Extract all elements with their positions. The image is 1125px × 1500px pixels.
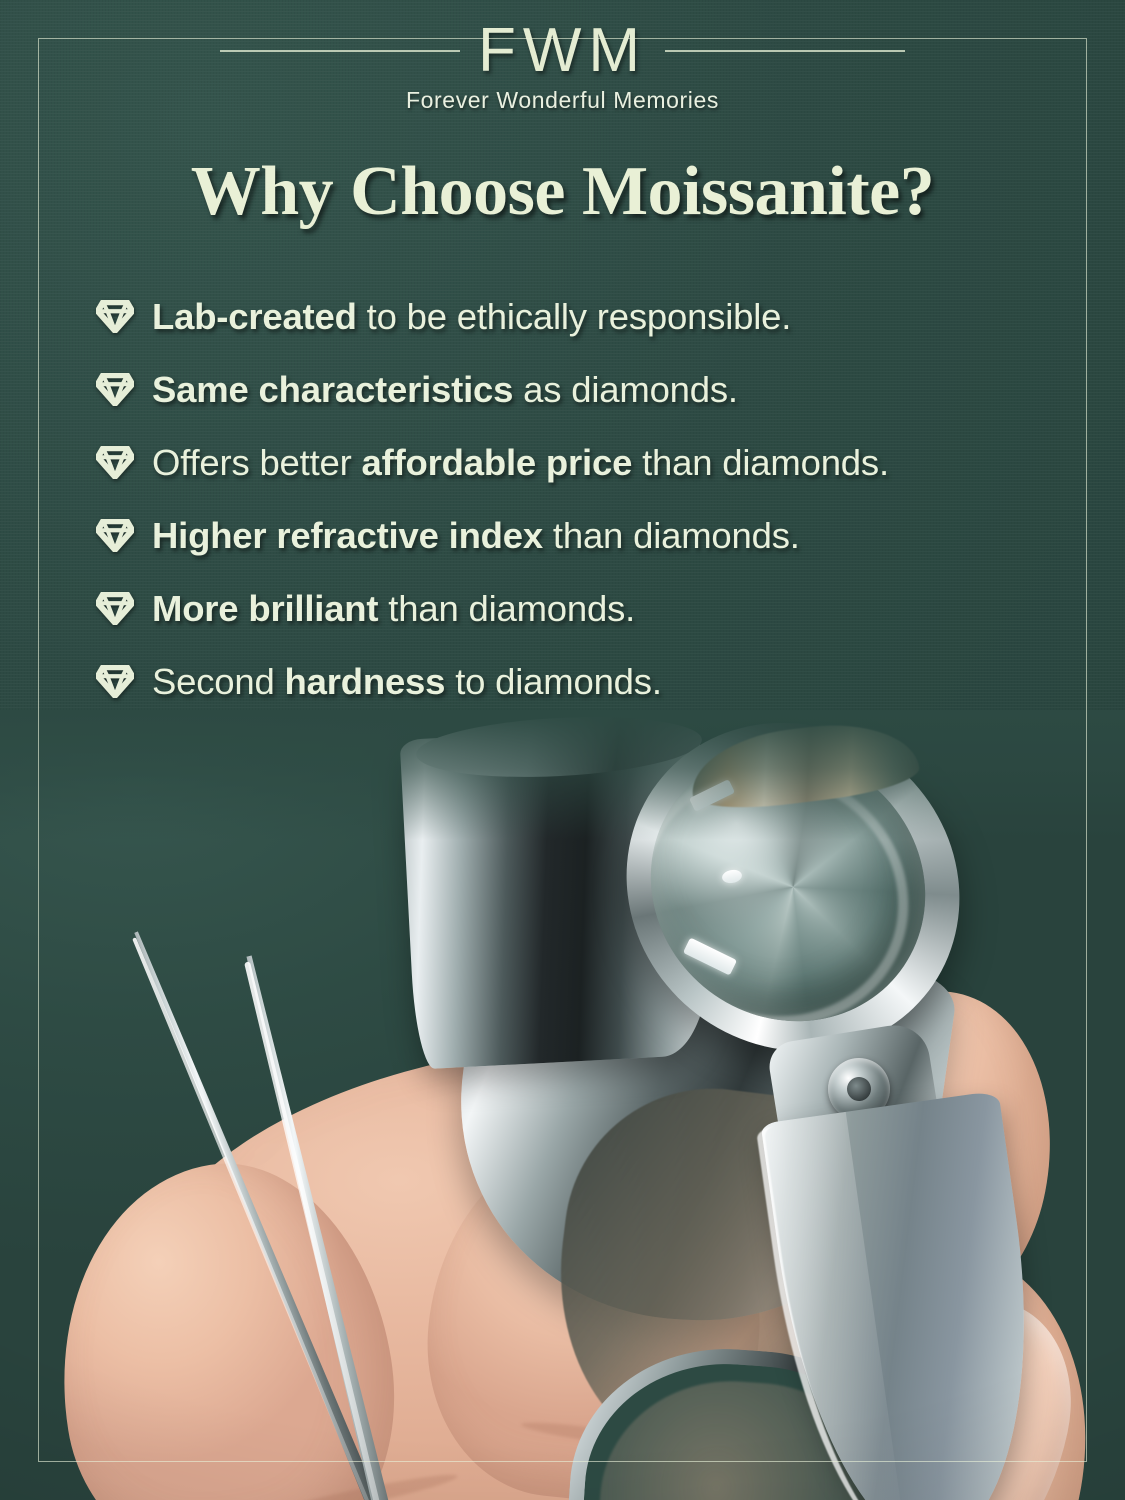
benefit-text: More brilliant than diamonds. xyxy=(152,589,635,628)
benefit-text-plain: Offers better xyxy=(152,442,362,483)
diamond-icon xyxy=(96,300,134,333)
benefit-text: Lab-created to be ethically responsible. xyxy=(152,297,791,336)
brand-logo: FWM xyxy=(478,22,647,81)
benefit-item: More brilliant than diamonds. xyxy=(96,572,1065,645)
benefit-text-emphasis: Lab-created xyxy=(152,296,357,337)
diamond-icon xyxy=(96,592,134,625)
benefit-text: Second hardness to diamonds. xyxy=(152,662,662,701)
benefit-item: Second hardness to diamonds. xyxy=(96,645,1065,718)
benefit-text-plain: as diamonds. xyxy=(513,369,738,410)
benefit-text-plain: than diamonds. xyxy=(632,442,889,483)
benefit-text-plain: than diamonds. xyxy=(543,515,800,556)
tweezer-arm-front xyxy=(236,953,497,1500)
brand-header: FWM Forever Wonderful Memories xyxy=(0,22,1125,114)
benefit-text-plain: to diamonds. xyxy=(445,661,662,702)
benefit-text-emphasis: More brilliant xyxy=(152,588,378,629)
benefit-text-plain: Second xyxy=(152,661,285,702)
poster: 10X 21T F xyxy=(0,0,1125,1500)
benefit-text-emphasis: affordable price xyxy=(362,442,633,483)
photo-top-blend xyxy=(0,710,1125,840)
benefit-text-emphasis: Higher refractive index xyxy=(152,515,543,556)
diamond-icon xyxy=(96,446,134,479)
product-photograph: 10X 21T F xyxy=(0,710,1125,1500)
diamond-icon xyxy=(96,519,134,552)
benefit-text: Offers better affordable price than diam… xyxy=(152,443,889,482)
benefit-text-plain: than diamonds. xyxy=(378,588,635,629)
logo-row: FWM xyxy=(0,22,1125,81)
benefit-item: Same characteristics as diamonds. xyxy=(96,353,1065,426)
benefit-item: Lab-created to be ethically responsible. xyxy=(96,280,1065,353)
divider-right xyxy=(665,50,905,52)
benefit-text-emphasis: hardness xyxy=(285,661,446,702)
diamond-icon xyxy=(96,592,134,625)
benefit-list: Lab-created to be ethically responsible.… xyxy=(96,280,1065,718)
diamond-icon xyxy=(96,300,134,333)
brand-tagline: Forever Wonderful Memories xyxy=(0,87,1125,114)
benefit-text-emphasis: Same characteristics xyxy=(152,369,513,410)
diamond-icon xyxy=(96,665,134,698)
tweezer-arm-rear xyxy=(129,929,446,1500)
benefit-text: Higher refractive index than diamonds. xyxy=(152,516,800,555)
tweezer-arm-rear-highlight xyxy=(132,937,427,1500)
benefit-item: Offers better affordable price than diam… xyxy=(96,426,1065,499)
benefit-text-plain: to be ethically responsible. xyxy=(357,296,791,337)
diamond-icon xyxy=(96,446,134,479)
benefit-text: Same characteristics as diamonds. xyxy=(152,370,738,409)
diamond-icon xyxy=(96,519,134,552)
diamond-icon xyxy=(96,373,134,406)
diamond-icon xyxy=(96,373,134,406)
benefit-item: Higher refractive index than diamonds. xyxy=(96,499,1065,572)
divider-left xyxy=(220,50,460,52)
page-title: Why Choose Moissanite? xyxy=(0,152,1125,232)
diamond-icon xyxy=(96,665,134,698)
